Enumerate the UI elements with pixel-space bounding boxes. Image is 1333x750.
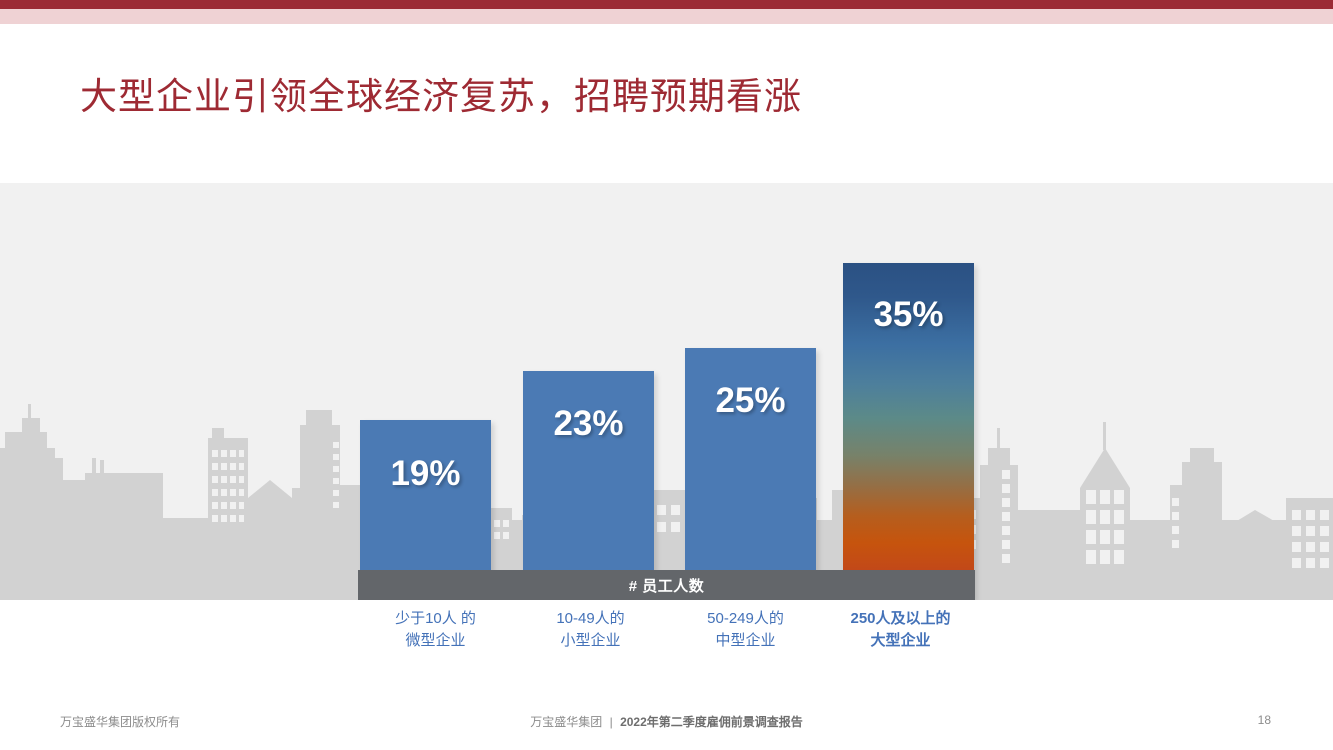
- footer: 万宝盛华集团版权所有 万宝盛华集团 | 2022年第二季度雇佣前景调查报告 18: [0, 705, 1333, 740]
- bar-value-label: 19%: [360, 454, 491, 494]
- footer-report-title: 2022年第二季度雇佣前景调查报告: [620, 715, 803, 729]
- footer-brand: 万宝盛华集团: [530, 715, 602, 729]
- top-accent-bar-light: [0, 9, 1333, 24]
- axis-band-label: # 员工人数: [629, 575, 705, 596]
- bar-value-label: 25%: [685, 381, 816, 421]
- bar-large-enterprises[interactable]: 35%: [843, 263, 974, 600]
- bar-medium-enterprises[interactable]: 25%: [685, 348, 816, 600]
- category-label-line2: 大型企业: [823, 630, 978, 652]
- category-label-large: 250人及以上的 大型企业: [823, 608, 978, 663]
- chart-panel: 19% 23% 25% 35%: [0, 183, 1333, 600]
- bar-value-label: 35%: [843, 295, 974, 335]
- top-accent-bar-dark: [0, 0, 1333, 9]
- category-label-medium: 50-249人的 中型企业: [668, 608, 823, 663]
- category-label-line1: 250人及以上的: [823, 608, 978, 630]
- bar-small-enterprises[interactable]: 23%: [523, 371, 654, 600]
- page-title: 大型企业引领全球经济复苏，招聘预期看涨: [80, 66, 802, 120]
- slide: 大型企业引领全球经济复苏，招聘预期看涨: [0, 0, 1333, 750]
- category-label-row: 少于10人 的 微型企业 10-49人的 小型企业 50-249人的 中型企业 …: [358, 608, 978, 663]
- footer-separator: |: [610, 715, 613, 729]
- category-label-micro: 少于10人 的 微型企业: [358, 608, 513, 663]
- category-label-line1: 少于10人 的: [358, 608, 513, 630]
- category-label-small: 10-49人的 小型企业: [513, 608, 668, 663]
- category-label-line2: 小型企业: [513, 630, 668, 652]
- category-label-line2: 中型企业: [668, 630, 823, 652]
- footer-center: 万宝盛华集团 | 2022年第二季度雇佣前景调查报告: [0, 713, 1333, 730]
- category-label-line1: 10-49人的: [513, 608, 668, 630]
- bar-series: 19% 23% 25% 35%: [0, 183, 1333, 600]
- axis-band: # 员工人数: [358, 570, 975, 600]
- bar-value-label: 23%: [523, 404, 654, 444]
- category-label-line1: 50-249人的: [668, 608, 823, 630]
- footer-page-number: 18: [1258, 713, 1271, 727]
- category-label-line2: 微型企业: [358, 630, 513, 652]
